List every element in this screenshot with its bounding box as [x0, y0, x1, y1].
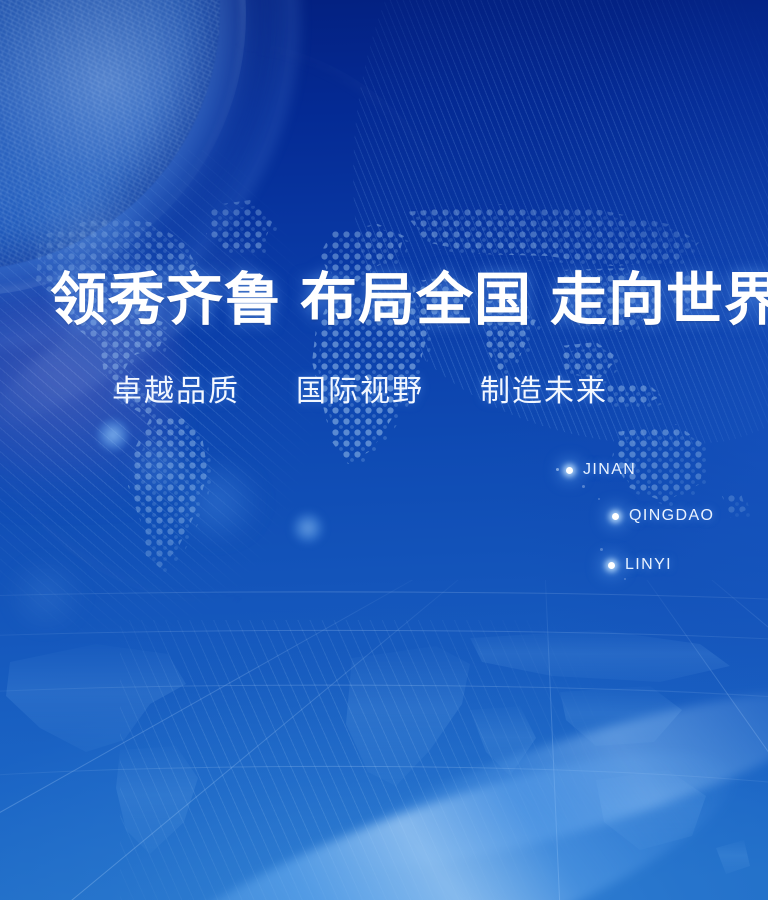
- subtitle-part-3: 制造未来: [480, 375, 608, 408]
- floor-world-map-decor: [0, 600, 768, 890]
- hero-banner: 领秀齐鲁布局全国走向世界 卓越品质国际视野制造未来 JINAN QINGDAO …: [0, 0, 768, 900]
- headline-part-2: 布局全国: [300, 269, 532, 332]
- map-marker-label: QINGDAO: [629, 507, 714, 525]
- map-marker-label: JINAN: [583, 461, 636, 479]
- map-pin-icon: [612, 513, 619, 520]
- map-pin-icon: [608, 562, 615, 569]
- subtitle-part-1: 卓越品质: [112, 375, 240, 408]
- map-marker-qingdao[interactable]: QINGDAO: [612, 507, 714, 525]
- headline-part-1: 领秀齐鲁: [50, 269, 282, 332]
- headline-part-3: 走向世界: [550, 269, 768, 332]
- page-title: 领秀齐鲁布局全国走向世界: [50, 268, 768, 334]
- page-subtitle: 卓越品质国际视野制造未来: [112, 372, 608, 412]
- subtitle-part-2: 国际视野: [296, 375, 424, 408]
- map-marker-jinan[interactable]: JINAN: [566, 461, 636, 479]
- map-marker-linyi[interactable]: LINYI: [608, 556, 672, 574]
- map-pin-icon: [566, 467, 573, 474]
- map-marker-label: LINYI: [625, 556, 672, 574]
